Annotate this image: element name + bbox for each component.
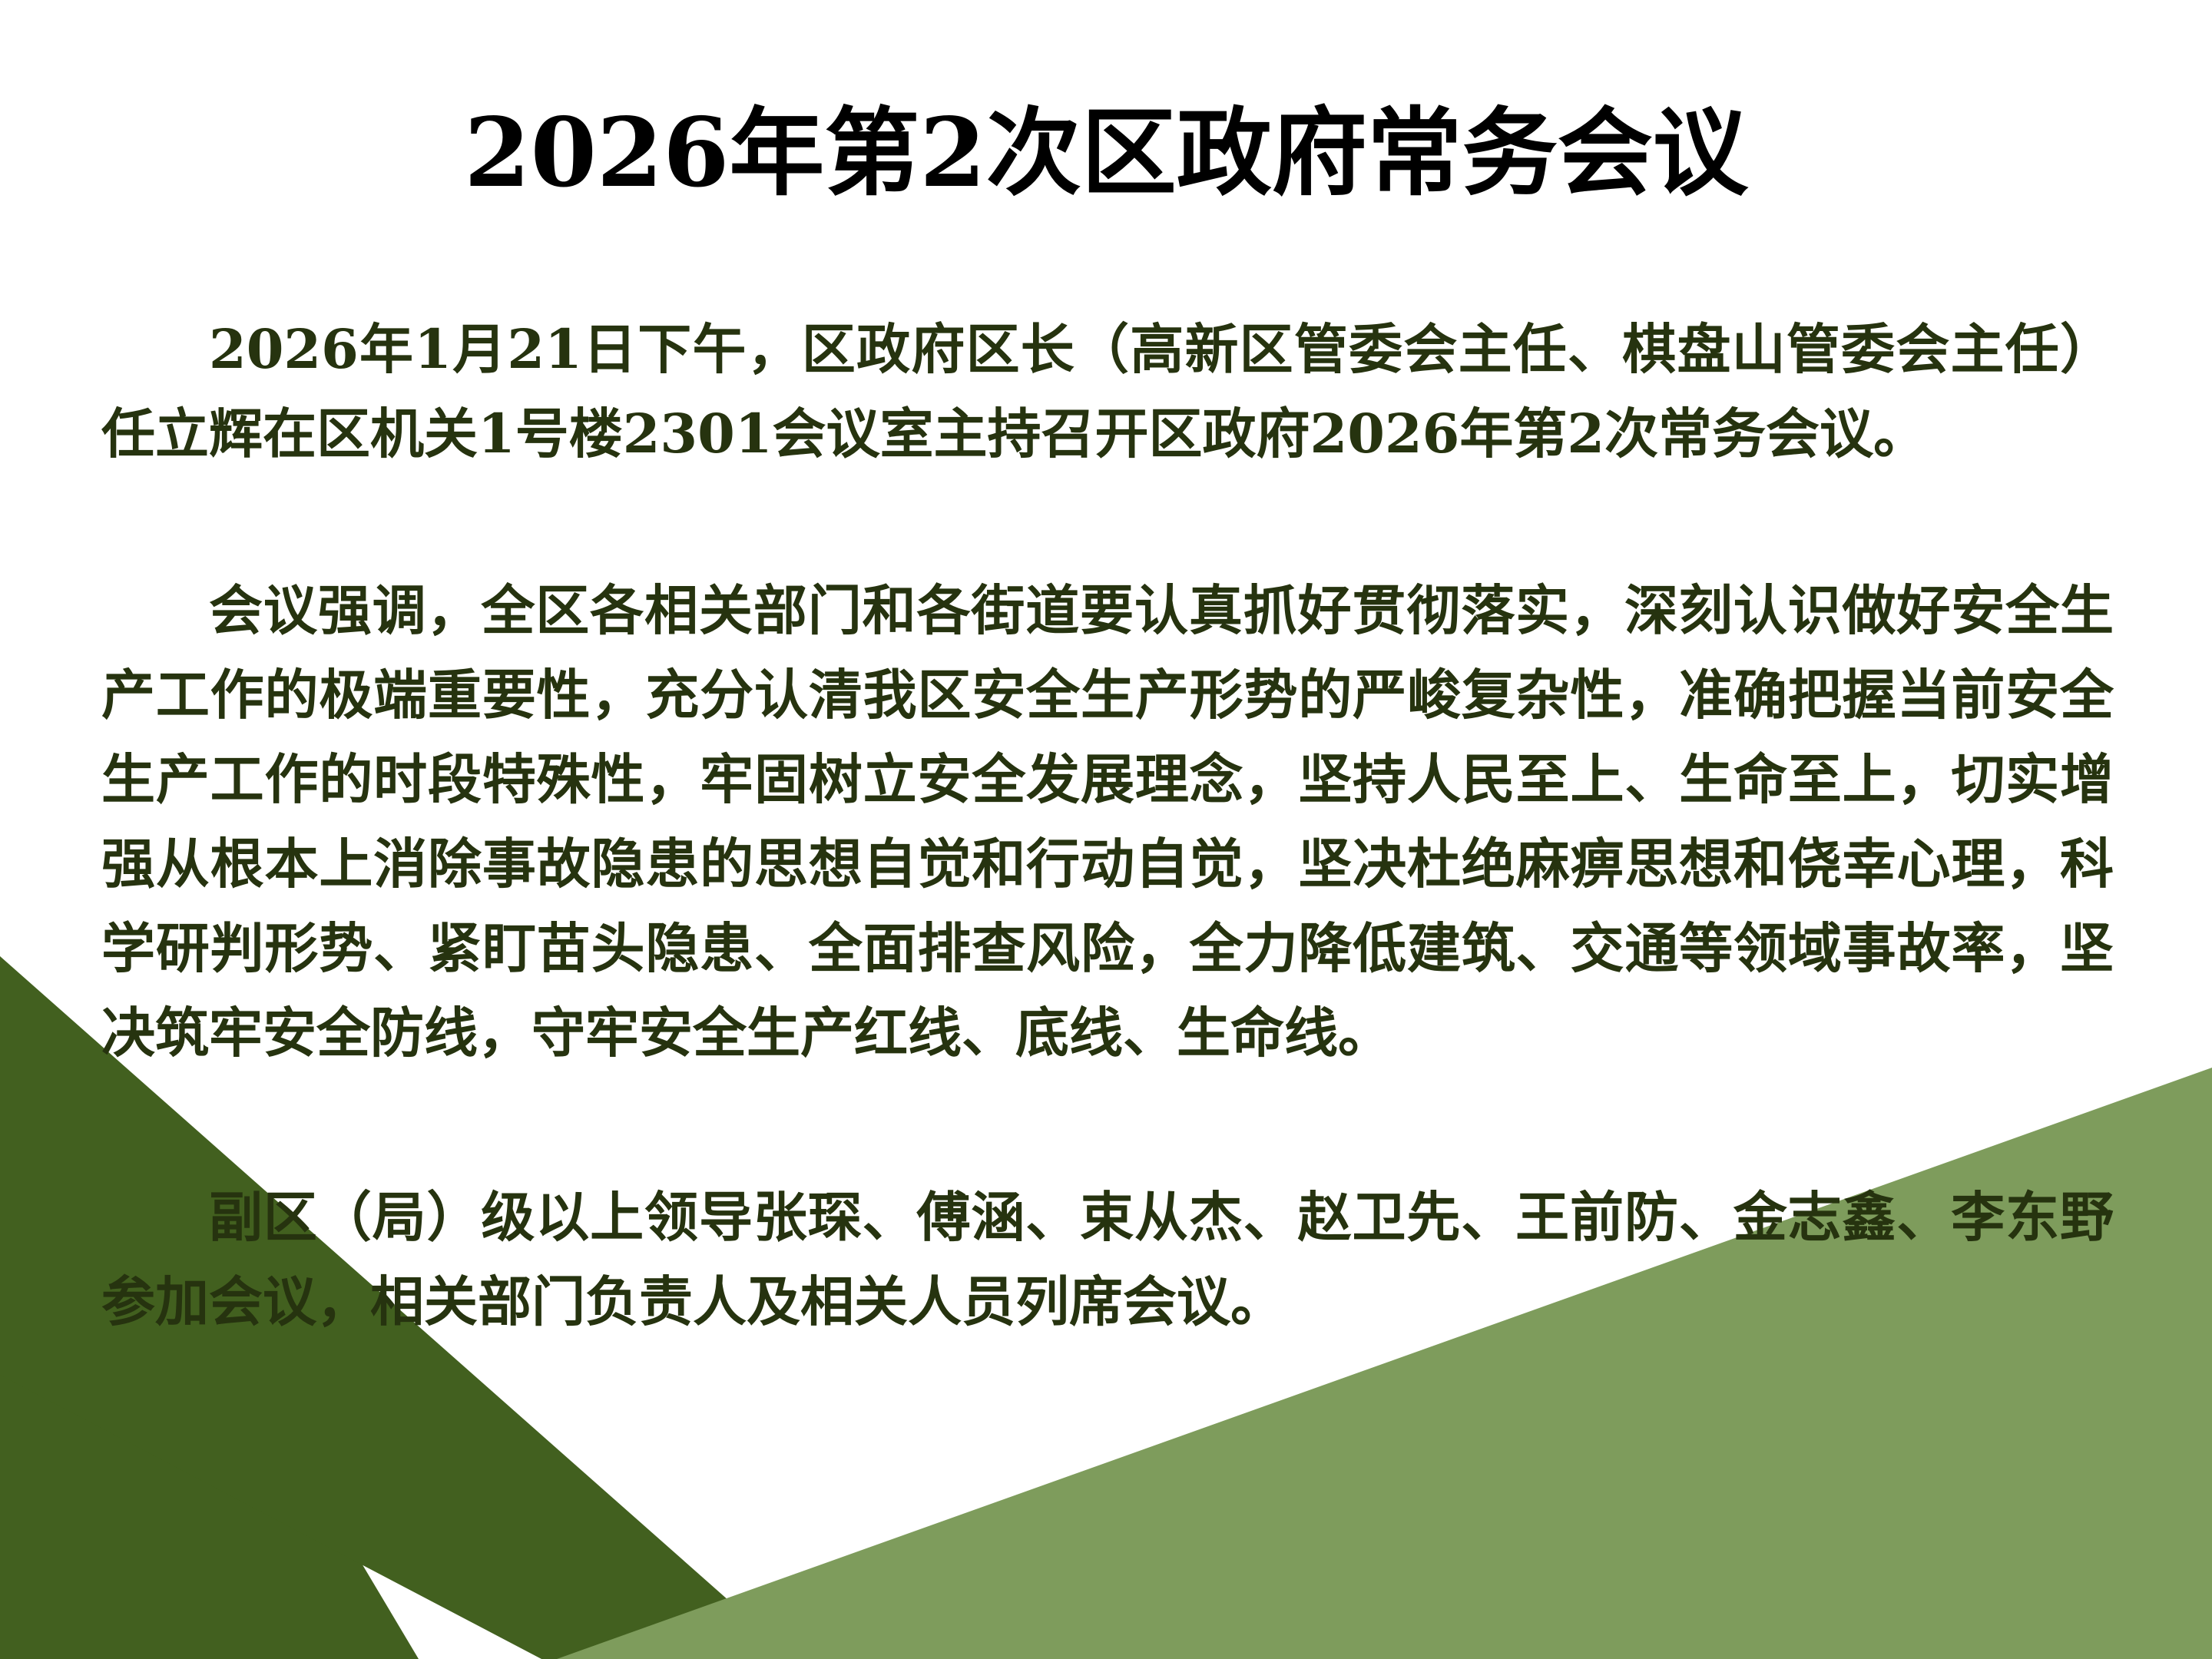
paragraph-text: 2026年1月21日下午，区政府区长（高新区管委会主任、棋盘山管委会主任）任立辉… <box>101 307 2114 476</box>
paragraph-meeting-summary: 2026年1月21日下午，区政府区长（高新区管委会主任、棋盘山管委会主任）任立辉… <box>101 307 2114 476</box>
slide-content: 2026年第2次区政府常务会议 2026年1月21日下午，区政府区长（高新区管委… <box>0 0 2212 1659</box>
paragraph-attendees: 副区（局）级以上领导张琛、傅涵、束从杰、赵卫先、王前防、金志鑫、李东野参加会议，… <box>101 1175 2114 1344</box>
paragraph-text: 会议强调，全区各相关部门和各街道要认真抓好贯彻落实，深刻认识做好安全生产工作的极… <box>101 568 2114 1075</box>
page-title: 2026年第2次区政府常务会议 <box>0 101 2212 206</box>
paragraph-text: 副区（局）级以上领导张琛、傅涵、束从杰、赵卫先、王前防、金志鑫、李东野参加会议，… <box>101 1175 2114 1344</box>
slide-canvas: 2026年第2次区政府常务会议 2026年1月21日下午，区政府区长（高新区管委… <box>0 0 2212 1659</box>
paragraph-meeting-emphasis: 会议强调，全区各相关部门和各街道要认真抓好贯彻落实，深刻认识做好安全生产工作的极… <box>101 568 2114 1075</box>
